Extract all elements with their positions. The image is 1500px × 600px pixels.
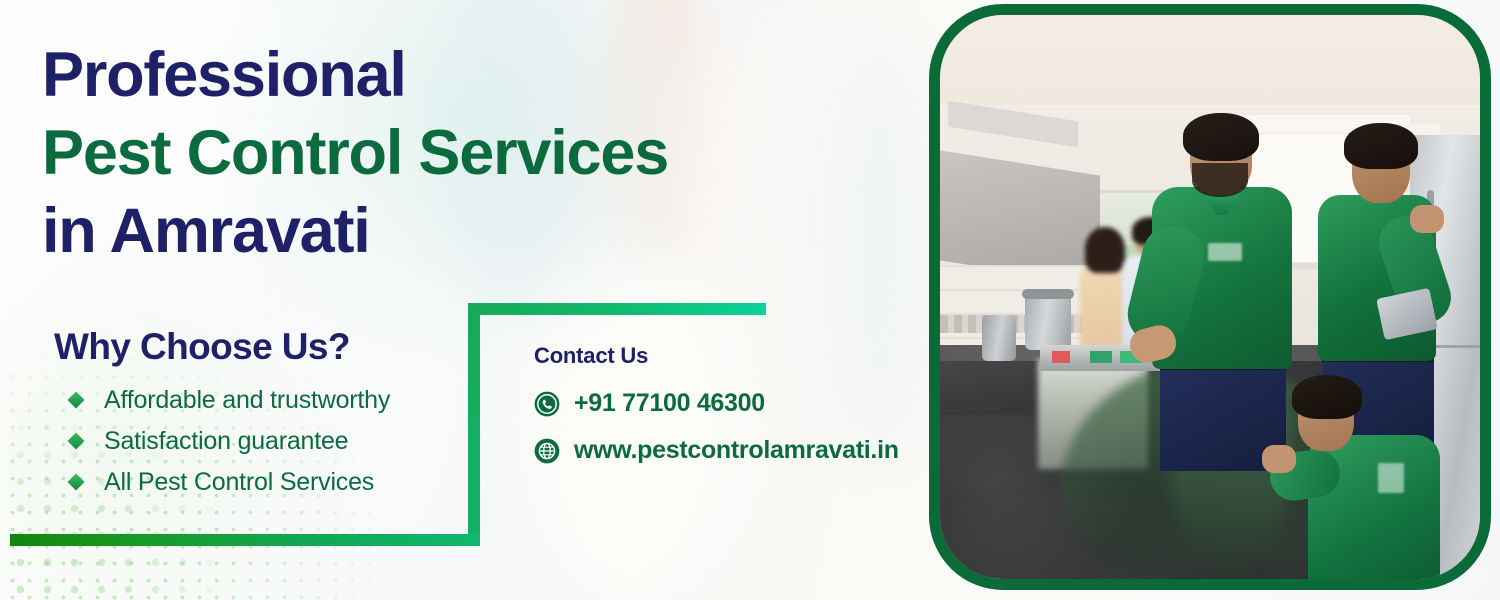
hero-photo-card [929,4,1491,590]
why-choose-us-title: Why Choose Us? [54,325,390,369]
kitchen-service-photo [940,15,1480,579]
headline-line-3: in Amravati [42,192,922,270]
list-item: Satisfaction guarantee [54,426,390,456]
benefit-label: Satisfaction guarantee [104,426,348,456]
benefits-list: Affordable and trustworthy Satisfaction … [54,385,390,497]
headline-line-2: Pest Control Services [42,114,922,192]
list-item: Affordable and trustworthy [54,385,390,415]
phone-circle-icon [534,391,560,417]
contact-website-row[interactable]: www.pestcontrolamravati.in [534,436,899,465]
benefit-label: All Pest Control Services [104,467,374,497]
frame-top-bar [468,303,766,315]
list-item: All Pest Control Services [54,467,390,497]
benefit-label: Affordable and trustworthy [104,385,390,415]
contact-block: Contact Us +91 77100 46300 [534,343,899,465]
promo-banner: Professional Pest Control Services in Am… [0,0,1500,600]
frame-left-bar [468,303,480,546]
globe-circle-icon [534,438,560,464]
phone-number: +91 77100 46300 [574,389,765,418]
frame-bottom-bar [10,534,480,546]
diamond-bullet-icon [68,433,85,450]
why-choose-us-block: Why Choose Us? Affordable and trustworth… [54,325,390,508]
contact-phone-row[interactable]: +91 77100 46300 [534,389,899,418]
website-url: www.pestcontrolamravati.in [574,436,899,465]
headline-line-1: Professional [42,36,922,114]
diamond-bullet-icon [68,392,85,409]
headline-block: Professional Pest Control Services in Am… [42,36,922,270]
diamond-bullet-icon [68,474,85,491]
contact-title: Contact Us [534,343,899,369]
